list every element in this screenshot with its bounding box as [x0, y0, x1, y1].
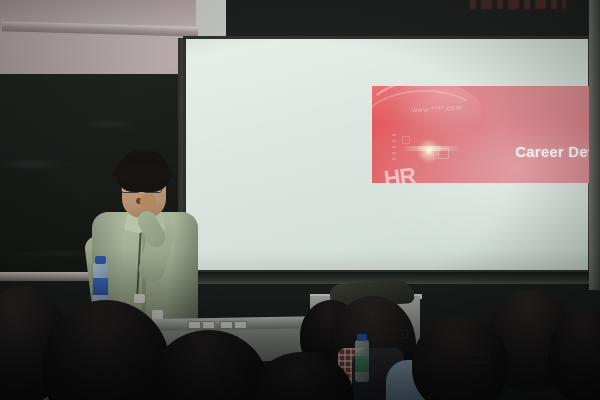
control-button [202, 321, 215, 329]
control-button [234, 321, 247, 329]
lanyard-badge [134, 294, 145, 303]
square-decor-1 [438, 148, 449, 159]
ribbon-arc-1 [372, 86, 485, 142]
right-wall-edge [589, 0, 600, 290]
watermark-url: www.****.com [412, 105, 462, 115]
ribbon-arc-4 [372, 135, 457, 183]
control-button [188, 321, 201, 329]
control-button [220, 321, 233, 329]
bottle-label-green [355, 356, 369, 372]
ribbon-arc-2 [372, 86, 484, 164]
lens-flare-icon [416, 138, 442, 164]
projection-screen: www.****.com HR 职业生涯规划 Career Developmen… [186, 39, 588, 270]
upper-wall [0, 0, 205, 78]
dot-column-decor [392, 134, 396, 160]
audience-glasses [386, 330, 408, 339]
lecture-hall-photo: www.****.com HR 职业生涯规划 Career Developmen… [0, 0, 600, 400]
slide-title-banner: www.****.com HR 职业生涯规划 Career Developmen… [372, 86, 600, 183]
ribbon-arc-3 [372, 122, 452, 183]
slide-cropped-top-text [470, 0, 566, 9]
ribbon-sheen [382, 86, 482, 144]
bottle-cap-green [357, 334, 367, 341]
hr-logo-watermark: HR [382, 162, 416, 183]
presenter-hair-fringe [113, 164, 173, 184]
slide-title-english: Career Development Planning [515, 145, 600, 160]
audience-glasses [468, 354, 490, 363]
bottle-cap-blue [95, 256, 106, 264]
lens-flare-streak [402, 146, 460, 151]
bottle-label-blue [93, 278, 108, 295]
square-decor-2 [402, 136, 410, 144]
